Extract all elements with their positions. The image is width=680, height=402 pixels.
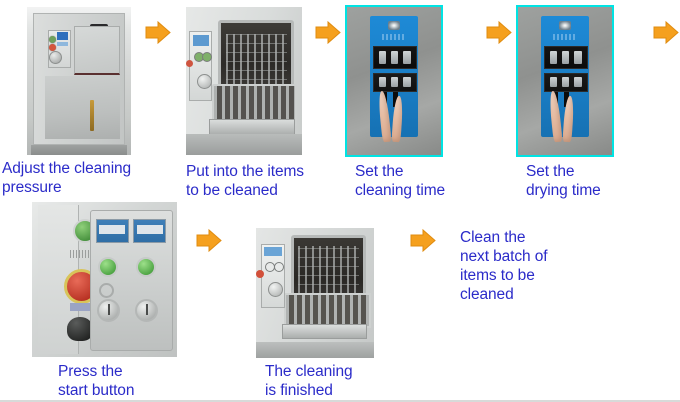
meter-right — [133, 219, 166, 243]
secondary-digit-1 — [379, 77, 386, 88]
photo-basket-loaded — [186, 7, 302, 155]
green-indicator-icon — [49, 36, 56, 43]
arrow-step-1-to-2-icon — [145, 20, 171, 45]
main-power-knob — [67, 317, 93, 341]
meter-left-screen — [99, 225, 125, 234]
caption-set-the-cleaning-time: Set the cleaning time — [355, 162, 505, 200]
wire-basket — [284, 293, 371, 328]
floor-surface — [186, 134, 302, 155]
photo-cabinet-closed — [27, 7, 131, 155]
small-port-icon — [99, 283, 114, 298]
secondary-display — [373, 73, 416, 92]
selector-switch-left — [97, 299, 120, 322]
lower-tray — [282, 324, 367, 339]
meter-right-screen — [137, 225, 163, 234]
secondary-digit-1 — [550, 77, 557, 88]
floor-surface — [256, 342, 374, 358]
caption-set-the-drying-time: Set the drying time — [526, 162, 676, 200]
arrow-step-5-to-6-icon — [196, 228, 222, 253]
indicator-lamp-right-icon — [274, 262, 284, 272]
arrow-step-3-to-4-icon — [486, 20, 512, 45]
caption-adjust-the-cleaning-pressure: Adjust the cleaning pressure — [2, 159, 172, 197]
door-handle — [90, 100, 94, 131]
chamber-rack — [226, 34, 287, 89]
indicator-lamp-left-icon — [98, 257, 118, 277]
cabinet-control-panel — [48, 30, 72, 68]
caption-press-the-start-button: Press the start button — [58, 362, 218, 400]
finger-left — [549, 91, 564, 143]
pressure-knob — [49, 51, 62, 64]
secondary-digit-2 — [391, 77, 398, 88]
rotary-knob — [268, 282, 283, 297]
caption-put-into-the-items-to-be-cleaned: Put into the items to be cleaned — [186, 162, 346, 200]
cleaning-time-display — [373, 46, 416, 69]
photo-control-panel — [32, 202, 177, 357]
indicator-lamp-right-icon — [136, 257, 156, 277]
blue-display-strip — [193, 35, 210, 46]
brand-logo-icon — [559, 21, 571, 31]
arrow-step-4-to-5-icon — [653, 20, 679, 45]
photo-cleaning-finished — [256, 228, 374, 358]
cabinet-body — [33, 13, 125, 145]
blue-timer-panel — [541, 16, 590, 137]
main-instrument-panel — [90, 210, 173, 352]
blue-gauge-label-secondary — [57, 42, 68, 46]
secondary-digit-2 — [562, 77, 569, 88]
secondary-digit-3 — [403, 77, 410, 88]
secondary-digit-3 — [574, 77, 581, 88]
caption-the-cleaning-is-finished: The cleaning is finished — [265, 362, 425, 400]
finger-left — [378, 91, 393, 143]
blue-gauge-label — [57, 32, 68, 40]
digit-tens — [391, 51, 398, 64]
digit-hundreds — [550, 51, 557, 64]
digit-hundreds — [379, 51, 386, 64]
photo-set-drying-time — [516, 5, 614, 157]
brand-logo-icon — [388, 21, 400, 31]
arrow-step-2-to-3-icon — [315, 20, 341, 45]
blue-timer-panel — [370, 16, 419, 137]
chamber-rack — [298, 246, 358, 294]
photo-set-cleaning-time — [345, 5, 443, 157]
side-control-plate — [261, 244, 285, 308]
secondary-display — [544, 73, 587, 92]
digit-ones — [574, 51, 581, 64]
red-indicator-icon — [49, 44, 56, 51]
side-control-plate — [189, 31, 212, 101]
blue-display-strip — [264, 247, 282, 256]
brand-text-strip — [382, 34, 405, 40]
brand-text-strip — [553, 34, 576, 40]
selector-switch-right — [135, 299, 158, 322]
cabinet-base — [31, 145, 127, 155]
flowchart-stage: Adjust the cleaning pressure Put into th… — [0, 0, 680, 402]
indicator-lamp-right-icon — [202, 52, 212, 62]
meter-left — [96, 219, 129, 243]
drying-time-display — [544, 46, 587, 69]
digit-ones — [403, 51, 410, 64]
upper-door — [74, 26, 120, 76]
lower-door — [45, 76, 120, 138]
rotary-knob — [197, 74, 212, 89]
digit-tens — [562, 51, 569, 64]
emergency-stop-icon — [256, 270, 264, 278]
arrow-step-6-to-7-icon — [410, 228, 436, 253]
caption-clean-the-next-batch-of-items-to-be-cleaned: Clean the next batch of items to be clea… — [460, 228, 620, 304]
